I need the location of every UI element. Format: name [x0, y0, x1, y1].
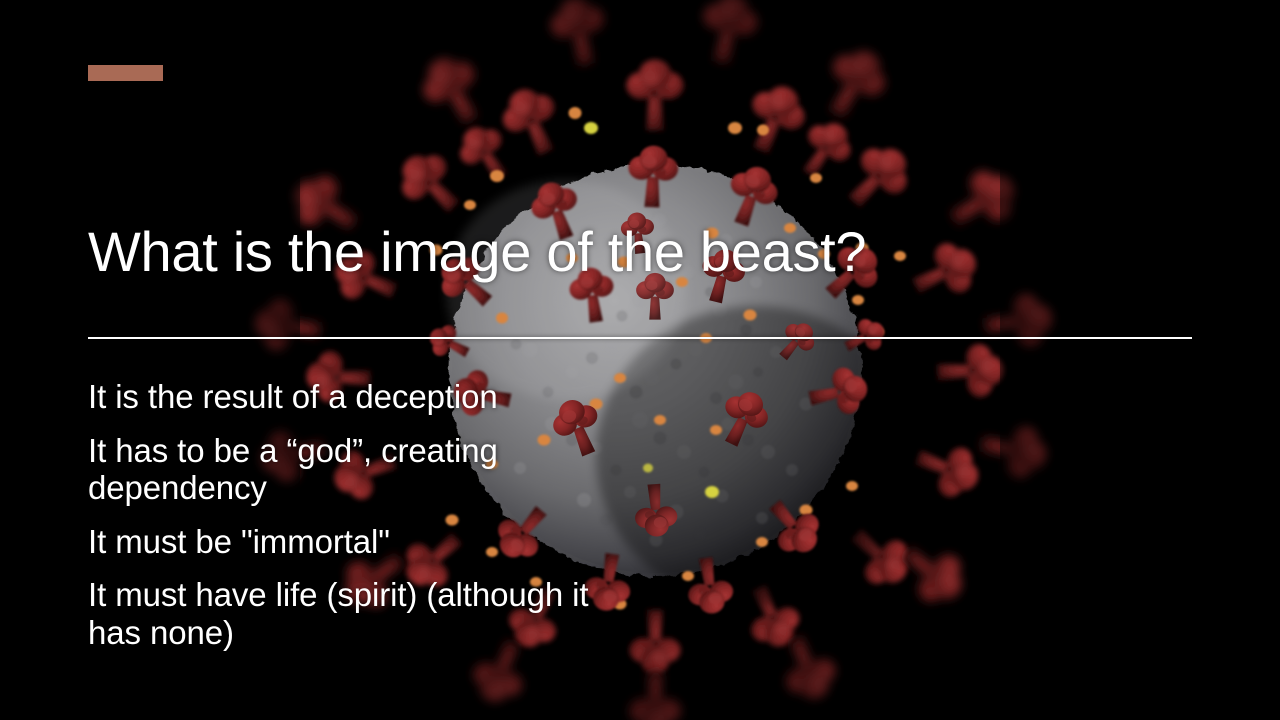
bullet-list: It is the result of a deception It has t… — [88, 378, 648, 652]
slide-content: What is the image of the beast? It is th… — [0, 0, 1280, 720]
slide: What is the image of the beast? It is th… — [0, 0, 1280, 720]
list-item: It is the result of a deception — [88, 378, 648, 416]
list-item: It must have life (spirit) (although it … — [88, 576, 648, 651]
list-item: It has to be a “god”, creating dependenc… — [88, 432, 648, 507]
title-divider — [88, 337, 1192, 339]
list-item: It must be "immortal" — [88, 523, 648, 561]
page-title: What is the image of the beast? — [88, 222, 1198, 282]
accent-bar — [88, 65, 163, 81]
